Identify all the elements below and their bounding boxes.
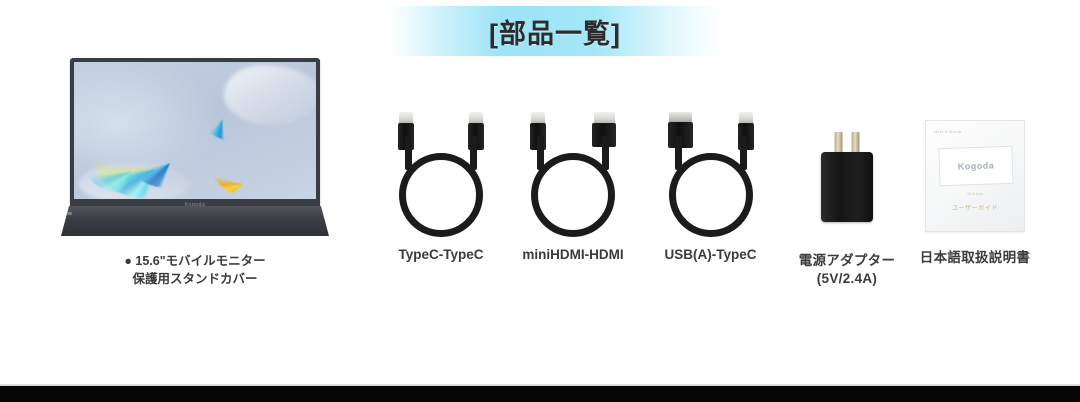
connector-tip [531, 112, 545, 123]
monitor-bezel: Kogoda [70, 58, 320, 210]
connector-tip [594, 112, 615, 123]
item-caption-line1: 電源アダプター [792, 252, 902, 270]
manual-guide-text: ユーザーガイド [926, 203, 1024, 212]
page-title: [部品一覧] [489, 12, 621, 51]
cable-loop [531, 153, 615, 237]
stand-indicator-dot [67, 212, 72, 215]
bottom-black-bar [0, 386, 1080, 402]
adapter-prongs [835, 132, 860, 154]
item-typec-typec: TypeC-TypeC [386, 112, 496, 264]
manual-cover-monitor-illustration: Kogoda [938, 146, 1013, 187]
item-minihdmi-hdmi: miniHDMI-HDMI [513, 112, 633, 264]
monitor-caption: ● 15.6"モバイルモニター 保護用スタンドカバー [70, 252, 320, 288]
monitor-screen [74, 62, 316, 199]
cable-loop [399, 153, 483, 237]
parts-list-infographic: [部品一覧] Kogoda ● 15.6"モバイルモニター 保護用スタンドカバー [0, 0, 1080, 402]
wallpaper-highlight-bottom-left [79, 163, 190, 199]
wallpaper-highlight-top-right [224, 65, 316, 125]
item-japanese-manual: User's Guide Kogoda 15.6 inch ユーザーガイド 日本… [915, 120, 1035, 267]
item-caption-line1: 日本語取扱説明書 [915, 249, 1035, 267]
item-power-adapter: 電源アダプター (5V/2.4A) [792, 128, 902, 288]
minihdmi-hdmi-cable-icon [525, 112, 621, 237]
usba-typec-cable-icon [663, 112, 759, 237]
monitor-stand-cover [61, 206, 329, 236]
adapter-prong-left [835, 132, 843, 154]
connector-tip [469, 112, 483, 123]
connector-tip [739, 112, 753, 123]
connector-tip [669, 112, 692, 122]
manual-brand-text: Kogoda [958, 160, 995, 171]
item-caption: 日本語取扱説明書 [915, 249, 1035, 267]
item-caption-line2: (5V/2.4A) [792, 270, 902, 288]
item-caption-line1: TypeC-TypeC [386, 246, 496, 264]
monitor-caption-line1: ● 15.6"モバイルモニター [70, 252, 320, 270]
manual-sub-text: 15.6 inch [926, 191, 1024, 196]
item-caption: miniHDMI-HDMI [513, 246, 633, 264]
monitor-caption-line2: 保護用スタンドカバー [70, 270, 320, 288]
power-adapter-icon [799, 128, 895, 243]
manual-booklet-icon: User's Guide Kogoda 15.6 inch ユーザーガイド [925, 120, 1025, 232]
item-usba-typec: USB(A)-TypeC [653, 112, 768, 264]
item-caption: USB(A)-TypeC [653, 246, 768, 264]
adapter-prong-right [852, 132, 860, 154]
cable-loop [669, 153, 753, 237]
adapter-body [821, 152, 873, 222]
item-caption: 電源アダプター (5V/2.4A) [792, 252, 902, 288]
item-caption-line1: miniHDMI-HDMI [513, 246, 633, 264]
connector-tip [399, 112, 413, 123]
monitor-product-image: Kogoda [70, 58, 320, 238]
page-title-banner: [部品一覧] [390, 6, 720, 56]
item-caption-line1: USB(A)-TypeC [653, 246, 768, 264]
typec-typec-cable-icon [393, 112, 489, 237]
item-caption: TypeC-TypeC [386, 246, 496, 264]
manual-top-text: User's Guide [934, 129, 962, 134]
